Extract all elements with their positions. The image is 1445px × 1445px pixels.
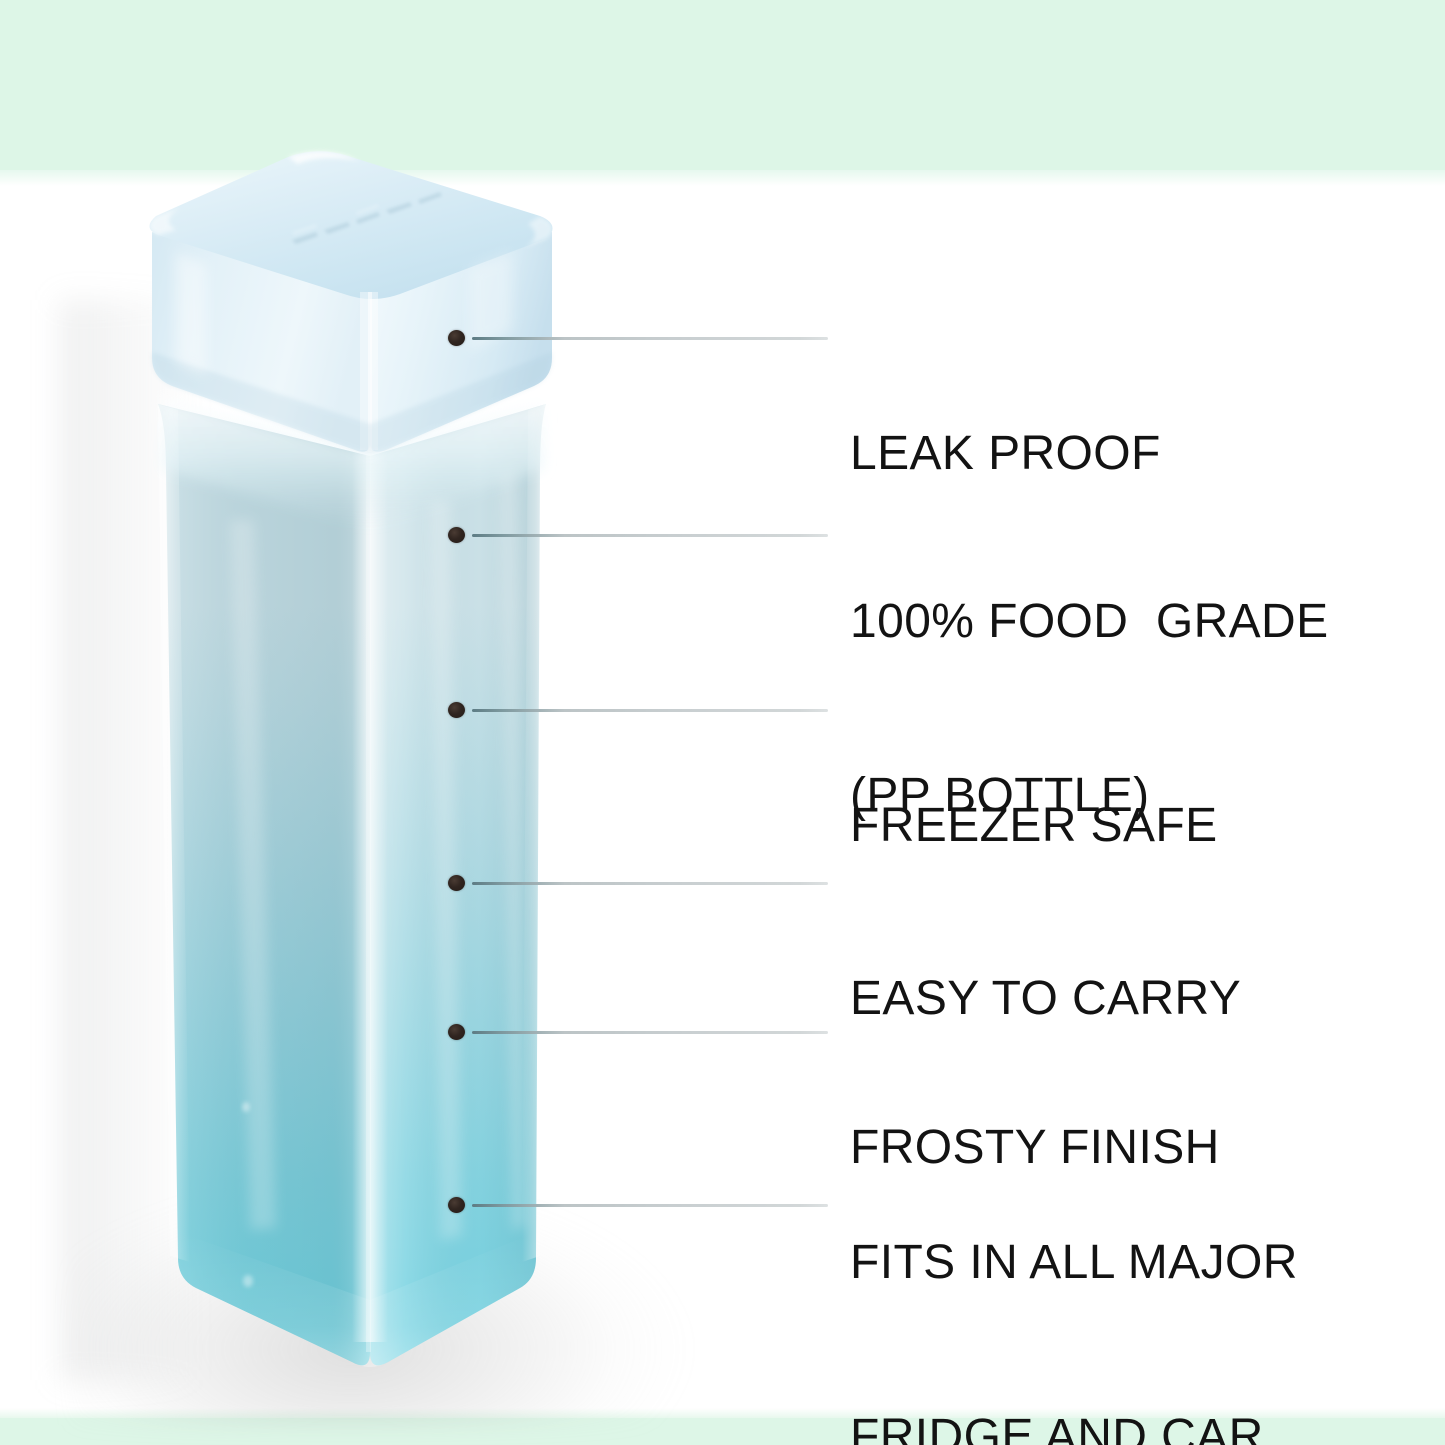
leader-line-easy-to-carry xyxy=(472,882,828,885)
callout-line: FRIDGE AND CAR xyxy=(850,1408,1298,1445)
callout-label-fits-compartments: FITS IN ALL MAJOR FRIDGE AND CAR COMPART… xyxy=(850,1118,1298,1445)
callout-dot-freezer-safe[interactable] xyxy=(448,702,465,718)
callout-line: FITS IN ALL MAJOR xyxy=(850,1234,1298,1292)
callout-dot-food-grade[interactable] xyxy=(448,527,465,543)
callout-dot-leak-proof[interactable] xyxy=(448,330,465,346)
bottle-cap xyxy=(149,151,552,453)
leader-line-food-grade xyxy=(472,534,828,537)
callout-line: 100% FOOD GRADE xyxy=(850,593,1329,651)
infographic-canvas: LEAK PROOF 100% FOOD GRADE (PP BOTTLE) F… xyxy=(0,0,1445,1445)
leader-line-frosty-finish xyxy=(472,1031,828,1034)
callout-line: FREEZER SAFE xyxy=(850,797,1218,855)
callout-dot-easy-to-carry[interactable] xyxy=(448,875,465,891)
callout-dot-frosty-finish[interactable] xyxy=(448,1024,465,1040)
callout-dot-fits-compartments[interactable] xyxy=(448,1197,465,1213)
leader-line-fits-compartments xyxy=(472,1204,828,1207)
callout-line: LEAK PROOF xyxy=(850,425,1161,483)
leader-line-freezer-safe xyxy=(472,709,828,712)
leader-line-leak-proof xyxy=(472,337,828,340)
